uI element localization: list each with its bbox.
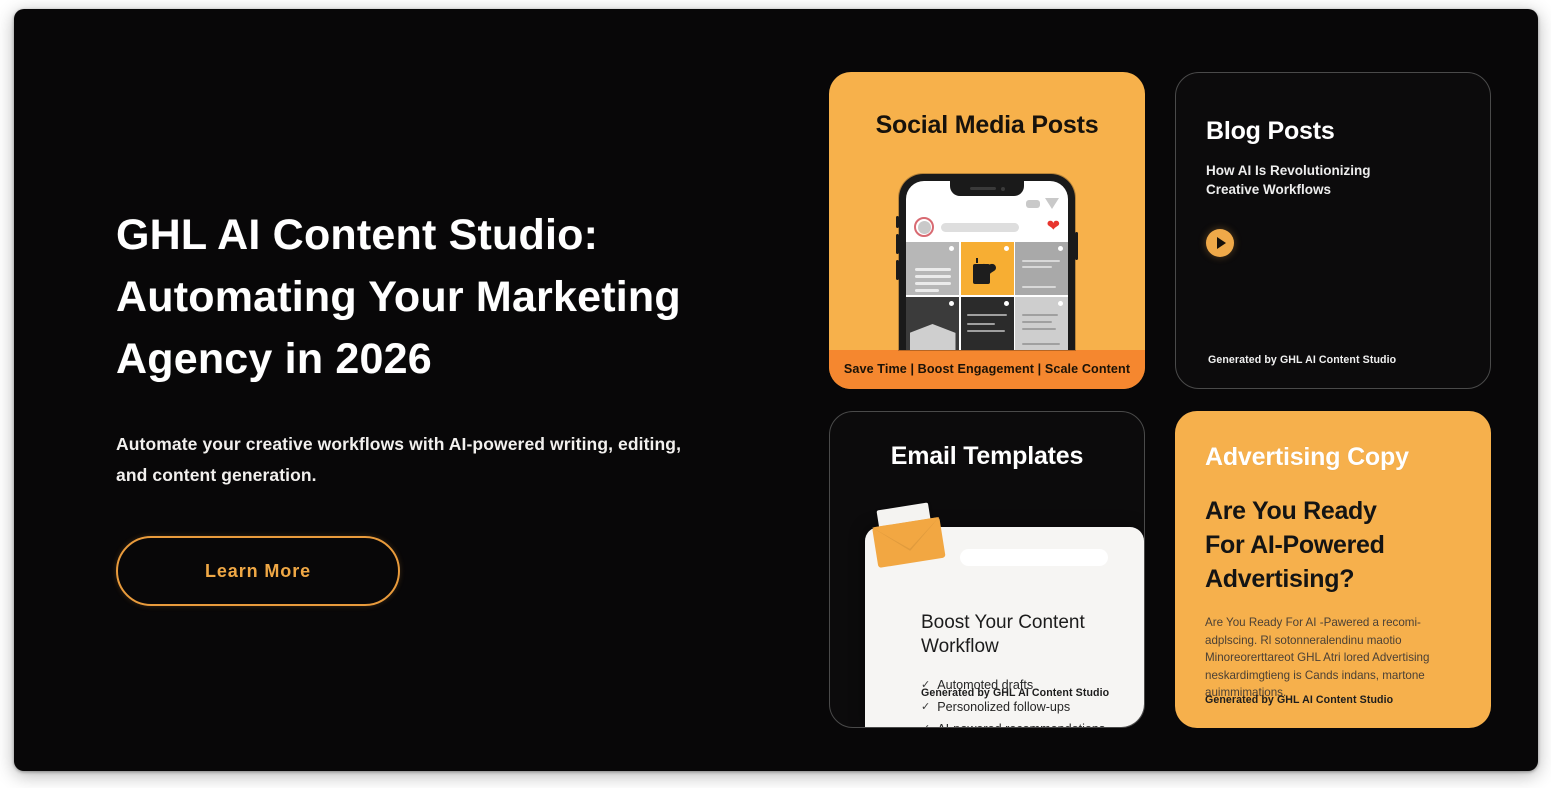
phone-mute-button bbox=[896, 216, 899, 228]
list-item-label: AI-powered recommendotions bbox=[937, 722, 1105, 728]
page-title-line-1: GHL AI Content Studio: bbox=[116, 211, 598, 259]
camera-icon bbox=[1001, 187, 1005, 191]
username-placeholder-bar bbox=[941, 223, 1019, 232]
speaker-icon bbox=[970, 187, 996, 191]
tile-dot-icon bbox=[1058, 301, 1063, 306]
phone-power-button bbox=[1075, 232, 1078, 260]
phone-notch bbox=[950, 181, 1024, 196]
post-thumbnail-grid: ❤ bbox=[906, 242, 1068, 350]
tile-dot-icon bbox=[1004, 246, 1009, 251]
play-triangle bbox=[1217, 237, 1226, 249]
tile-dot-icon bbox=[949, 246, 954, 251]
card-email-generated-by: Generated by GHL AI Content Studio bbox=[921, 687, 1109, 699]
card-blog-posts[interactable]: Blog Posts How AI Is Revolutionizing Cre… bbox=[1175, 72, 1491, 389]
play-icon[interactable] bbox=[1206, 229, 1234, 257]
card-social-media-posts[interactable]: Social Media Posts bbox=[829, 72, 1145, 389]
page-title-line-3: Agency in 2026 bbox=[116, 335, 432, 383]
post-tile bbox=[906, 297, 959, 350]
card-advertising-headline: Are You Ready For AI-Powered Advertising… bbox=[1205, 494, 1461, 596]
email-benefit-list: ✓ Automoted drafts ✓ Personolized follow… bbox=[921, 678, 1122, 728]
list-item: ✓ Personolized follow-ups bbox=[921, 700, 1122, 714]
card-advertising-title: Advertising Copy bbox=[1205, 443, 1461, 472]
tile-dot-icon bbox=[1004, 301, 1009, 306]
learn-more-button[interactable]: Learn More bbox=[116, 536, 400, 606]
check-icon: ✓ bbox=[921, 700, 930, 713]
email-panel-heading: Boost Your Content Workflow bbox=[921, 611, 1111, 660]
ad-headline-line-2: For AI-Powered bbox=[1205, 531, 1385, 559]
tile-building-graphic bbox=[910, 324, 956, 350]
hero-section: GHL AI Content Studio: Automating Your M… bbox=[116, 205, 756, 606]
envelope-icon bbox=[870, 506, 945, 568]
tile-dot-icon bbox=[949, 301, 954, 306]
card-advertising-body: Are You Ready For AI -Pawered a recomi-a… bbox=[1205, 614, 1461, 702]
avatar-inner bbox=[918, 221, 931, 234]
app-topbar bbox=[1026, 198, 1059, 209]
post-tile bbox=[1015, 297, 1068, 350]
post-tile bbox=[961, 297, 1014, 350]
feature-card-grid: Social Media Posts bbox=[829, 72, 1491, 728]
avatar bbox=[914, 217, 934, 237]
learn-more-label: Learn More bbox=[205, 561, 311, 582]
post-tile: ❤ bbox=[961, 242, 1014, 295]
ad-headline-line-3: Advertising? bbox=[1205, 565, 1354, 593]
tile-dot-icon bbox=[1058, 246, 1063, 251]
phone-screen: ❤ bbox=[906, 181, 1068, 350]
post-tile bbox=[1015, 242, 1068, 295]
card-blog-generated-by: Generated by GHL AI Content Studio bbox=[1208, 354, 1396, 366]
card-advertising-generated-by: Generated by GHL AI Content Studio bbox=[1205, 694, 1393, 706]
list-item: ✓ AI-powered recommendotions bbox=[921, 722, 1122, 728]
poster-frame: GHL AI Content Studio: Automating Your M… bbox=[14, 9, 1538, 771]
card-advertising-copy[interactable]: Advertising Copy Are You Ready For AI-Po… bbox=[1175, 411, 1491, 728]
email-preview-panel: Boost Your Content Workflow ✓ Automoted … bbox=[865, 527, 1144, 727]
heart-icon: ❤ bbox=[1047, 219, 1060, 235]
card-social-title: Social Media Posts bbox=[876, 111, 1099, 140]
send-icon bbox=[1045, 198, 1059, 209]
post-tile bbox=[906, 242, 959, 295]
tile-bag-icon bbox=[973, 264, 990, 284]
phone-volume-up-button bbox=[896, 234, 899, 254]
phone-volume-down-button bbox=[896, 260, 899, 280]
card-social-footer: Save Time | Boost Engagement | Scale Con… bbox=[829, 350, 1145, 389]
card-email-title: Email Templates bbox=[830, 442, 1144, 471]
screenshot-stage: GHL AI Content Studio: Automating Your M… bbox=[0, 0, 1551, 788]
card-blog-title: Blog Posts bbox=[1206, 117, 1460, 146]
ad-headline-line-1: Are You Ready bbox=[1205, 497, 1377, 525]
panel-subject-bar bbox=[960, 549, 1108, 566]
profile-row: ❤ bbox=[914, 217, 1060, 237]
phone-mockup: ❤ bbox=[899, 174, 1075, 350]
email-panel-content: Boost Your Content Workflow ✓ Automoted … bbox=[921, 611, 1122, 728]
check-icon: ✓ bbox=[921, 722, 930, 728]
card-blog-subtitle: How AI Is Revolutionizing Creative Workf… bbox=[1206, 161, 1421, 199]
list-item-label: Personolized follow-ups bbox=[937, 700, 1070, 714]
page-title-line-2: Automating Your Marketing bbox=[116, 273, 681, 321]
topbar-pill-icon bbox=[1026, 200, 1040, 208]
page-title: GHL AI Content Studio: Automating Your M… bbox=[116, 205, 756, 391]
phone-mockup-wrapper: ❤ bbox=[829, 140, 1145, 350]
hero-subtitle: Automate your creative workflows with AI… bbox=[116, 429, 716, 491]
card-email-templates[interactable]: Email Templates Boost Your Content Workf… bbox=[829, 411, 1145, 728]
